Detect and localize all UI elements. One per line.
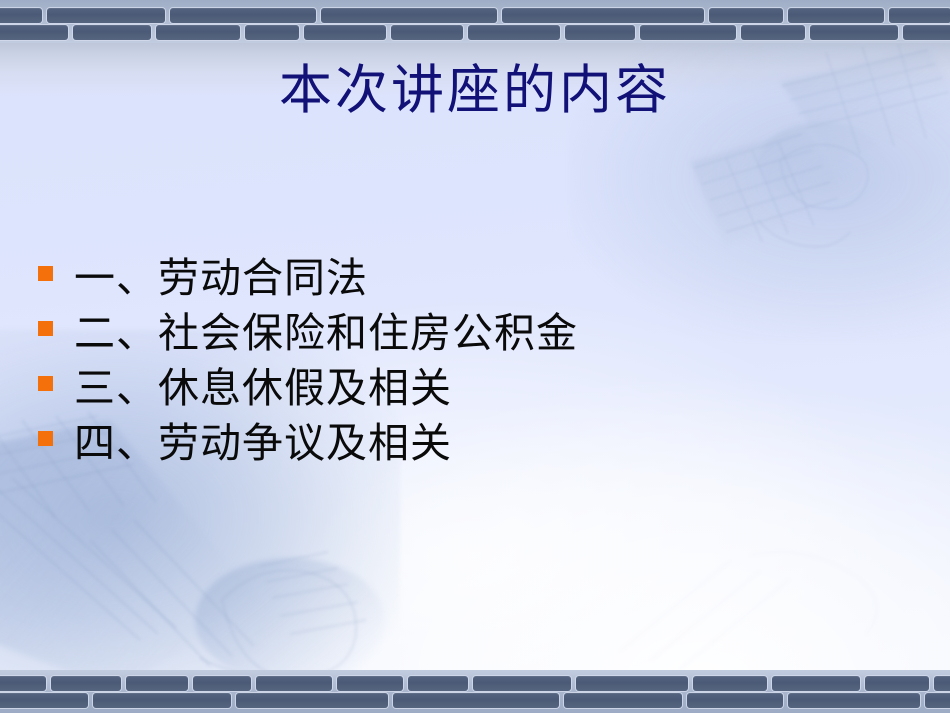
bottom-brick-row-lower xyxy=(0,693,950,708)
list-item-label: 一、劳动合同法 xyxy=(74,252,368,304)
list-item[interactable]: 四、劳动争议及相关 xyxy=(38,417,898,472)
list-item[interactable]: 三、休息休假及相关 xyxy=(38,362,898,417)
list-item-label: 二、社会保险和住房公积金 xyxy=(74,307,578,359)
presentation-slide: 本次讲座的内容 一、劳动合同法 二、社会保险和住房公积金 三、休息休假及相关 四… xyxy=(0,0,950,713)
orange-square-bullet-icon xyxy=(38,321,53,336)
list-item[interactable]: 二、社会保险和住房公积金 xyxy=(38,307,898,362)
orange-square-bullet-icon xyxy=(38,431,53,446)
list-item-label: 三、休息休假及相关 xyxy=(74,362,452,414)
top-brick-border xyxy=(0,0,950,43)
top-brick-row-upper xyxy=(0,8,950,23)
top-brick-row-lower xyxy=(0,25,950,40)
list-item-label: 四、劳动争议及相关 xyxy=(74,417,452,469)
bottom-brick-row-upper xyxy=(0,676,950,691)
orange-square-bullet-icon xyxy=(38,376,53,391)
list-item[interactable]: 一、劳动合同法 xyxy=(38,252,898,307)
orange-square-bullet-icon xyxy=(38,266,53,281)
bullet-list: 一、劳动合同法 二、社会保险和住房公积金 三、休息休假及相关 四、劳动争议及相关 xyxy=(38,252,898,472)
slide-title: 本次讲座的内容 xyxy=(0,62,950,120)
bottom-brick-border xyxy=(0,670,950,713)
